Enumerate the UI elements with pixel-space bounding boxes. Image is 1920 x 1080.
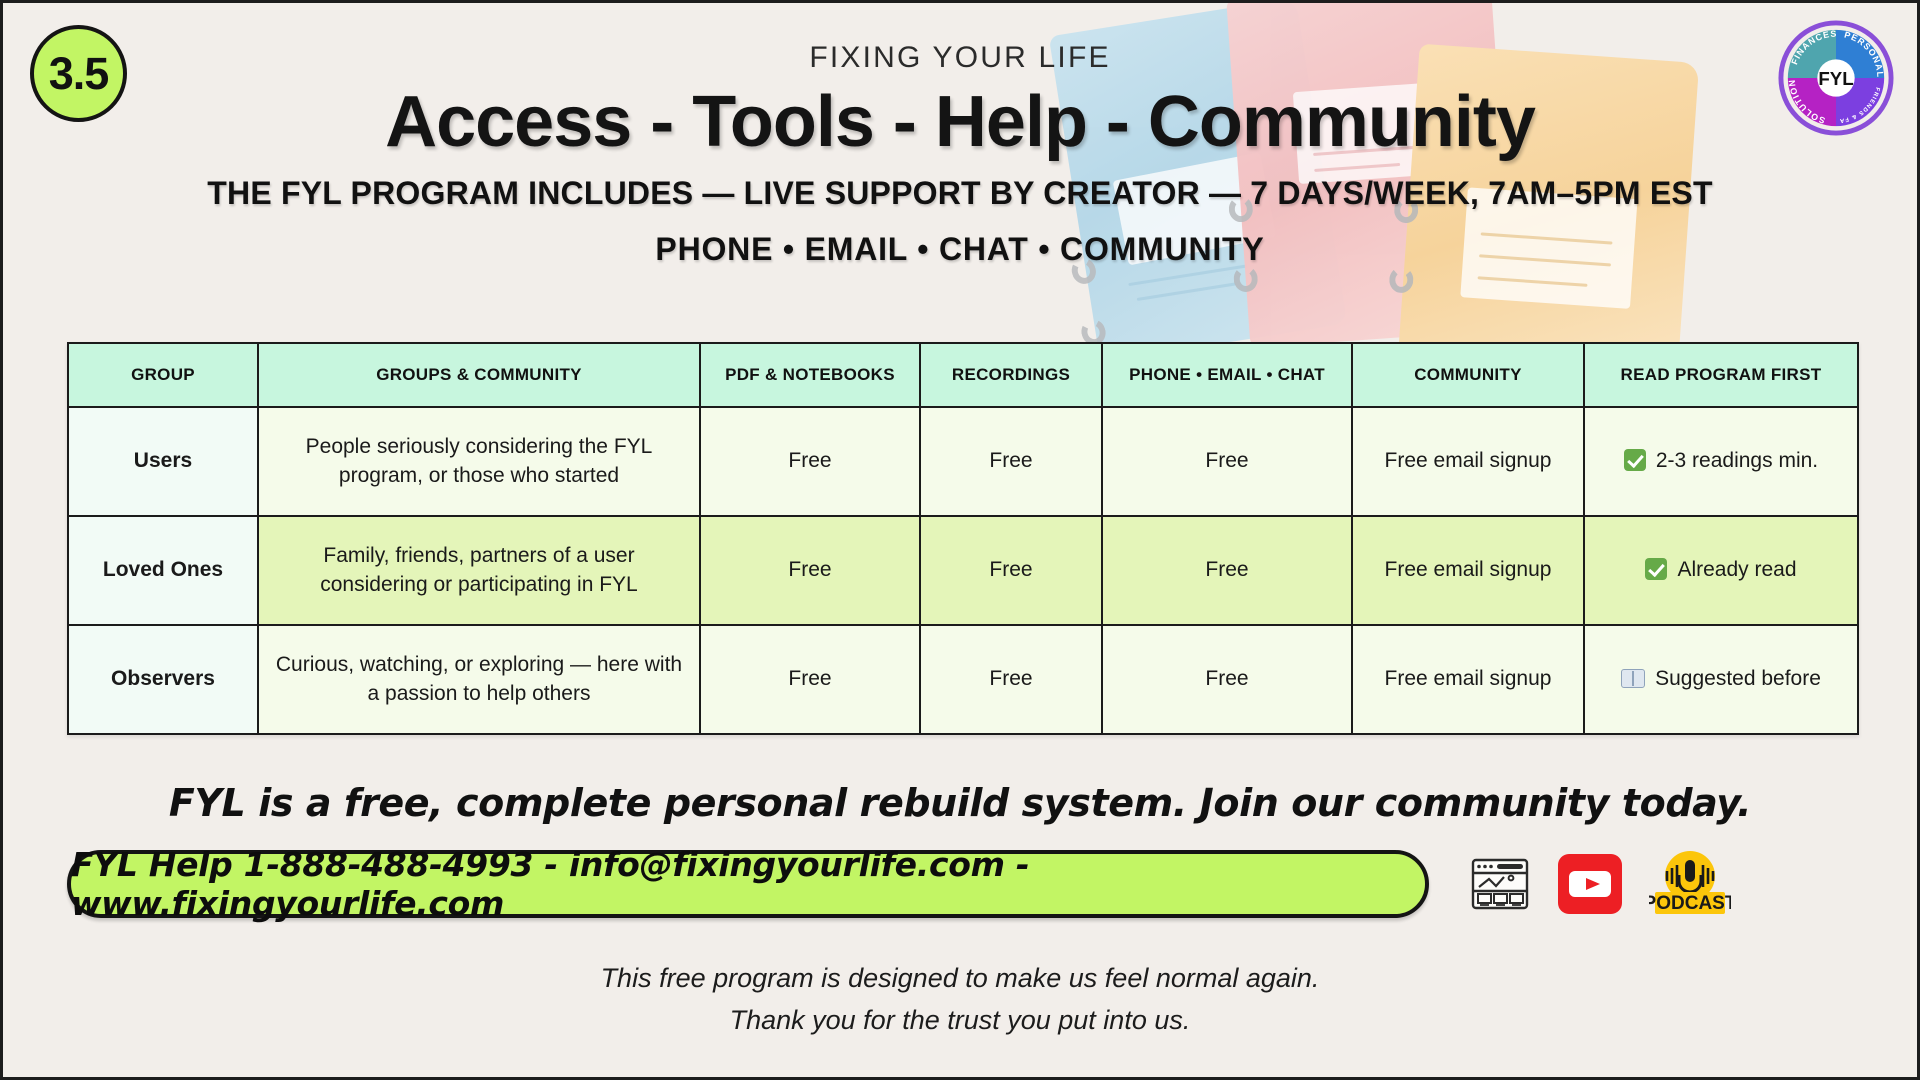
subtitle-primary: THE FYL PROGRAM INCLUDES — LIVE SUPPORT … [3,175,1917,212]
cell-recordings: Free [920,407,1102,516]
contact-bar[interactable]: FYL Help 1-888-488-4993 - info@fixingyou… [67,850,1429,918]
cell-community: Free email signup [1352,516,1584,625]
col-phone-email-chat: PHONE • EMAIL • CHAT [1102,343,1352,407]
cell-pdf: Free [700,516,920,625]
cell-group: Observers [68,625,258,734]
poster-root: 3.5 FINANCES PERSONAL FRIENDS & FAMILY S… [0,0,1920,1080]
cell-phone: Free [1102,516,1352,625]
tagline-text: FYL is a free, complete personal rebuild… [3,781,1917,825]
cell-group: Users [68,407,258,516]
cell-read-first-label: Suggested before [1655,667,1821,690]
table-row: Users People seriously considering the F… [68,407,1858,516]
kicker-text: FIXING YOUR LIFE [3,41,1917,75]
cell-read-first-label: Already read [1677,558,1796,581]
cell-description: People seriously considering the FYL pro… [258,407,700,516]
book-icon [1621,669,1645,688]
cell-description: Family, friends, partners of a user cons… [258,516,700,625]
col-group: GROUP [68,343,258,407]
col-recordings: RECORDINGS [920,343,1102,407]
cell-phone: Free [1102,625,1352,734]
fyl-logo-icon: FINANCES PERSONAL FRIENDS & FAMILY SOLUT… [1777,19,1895,137]
table-header-row: GROUP GROUPS & COMMUNITY PDF & NOTEBOOKS… [68,343,1858,407]
table-row: Observers Curious, watching, or explorin… [68,625,1858,734]
podcast-label: PODCAST [1649,893,1731,914]
cell-pdf: Free [700,407,920,516]
col-pdf-notebooks: PDF & NOTEBOOKS [700,343,920,407]
cell-read-first-label: 2-3 readings min. [1656,449,1818,472]
header: FIXING YOUR LIFE Access - Tools - Help -… [3,41,1917,268]
youtube-icon[interactable] [1557,851,1623,917]
cell-phone: Free [1102,407,1352,516]
cell-recordings: Free [920,625,1102,734]
contact-bar-text: FYL Help 1-888-488-4993 - info@fixingyou… [71,845,1425,923]
page-title: Access - Tools - Help - Community [3,81,1917,163]
access-table: GROUP GROUPS & COMMUNITY PDF & NOTEBOOKS… [67,342,1859,735]
cell-group: Loved Ones [68,516,258,625]
website-icon[interactable] [1469,853,1531,915]
version-badge: 3.5 [30,25,127,122]
access-table-wrapper: GROUP GROUPS & COMMUNITY PDF & NOTEBOOKS… [67,342,1859,735]
footer-line-2: Thank you for the trust you put into us. [3,1000,1917,1042]
version-badge-value: 3.5 [49,48,109,100]
subtitle-secondary: PHONE • EMAIL • CHAT • COMMUNITY [3,231,1917,268]
cell-read-first: 2-3 readings min. [1584,407,1858,516]
svg-text:FYL: FYL [1818,68,1853,89]
cell-community: Free email signup [1352,407,1584,516]
contact-row: FYL Help 1-888-488-4993 - info@fixingyou… [67,848,1859,920]
cell-read-first: Already read [1584,516,1858,625]
cell-community: Free email signup [1352,625,1584,734]
col-read-program-first: READ PROGRAM FIRST [1584,343,1858,407]
cell-description: Curious, watching, or exploring — here w… [258,625,700,734]
cell-recordings: Free [920,516,1102,625]
cell-read-first: Suggested before [1584,625,1858,734]
col-groups-community: GROUPS & COMMUNITY [258,343,700,407]
footer: This free program is designed to make us… [3,958,1917,1042]
check-icon [1645,558,1667,580]
table-row: Loved Ones Family, friends, partners of … [68,516,1858,625]
cell-pdf: Free [700,625,920,734]
social-icons: PODCAST [1469,848,1731,920]
check-icon [1624,449,1646,471]
podcast-icon[interactable]: PODCAST [1649,848,1731,920]
col-community: COMMUNITY [1352,343,1584,407]
footer-line-1: This free program is designed to make us… [3,958,1917,1000]
